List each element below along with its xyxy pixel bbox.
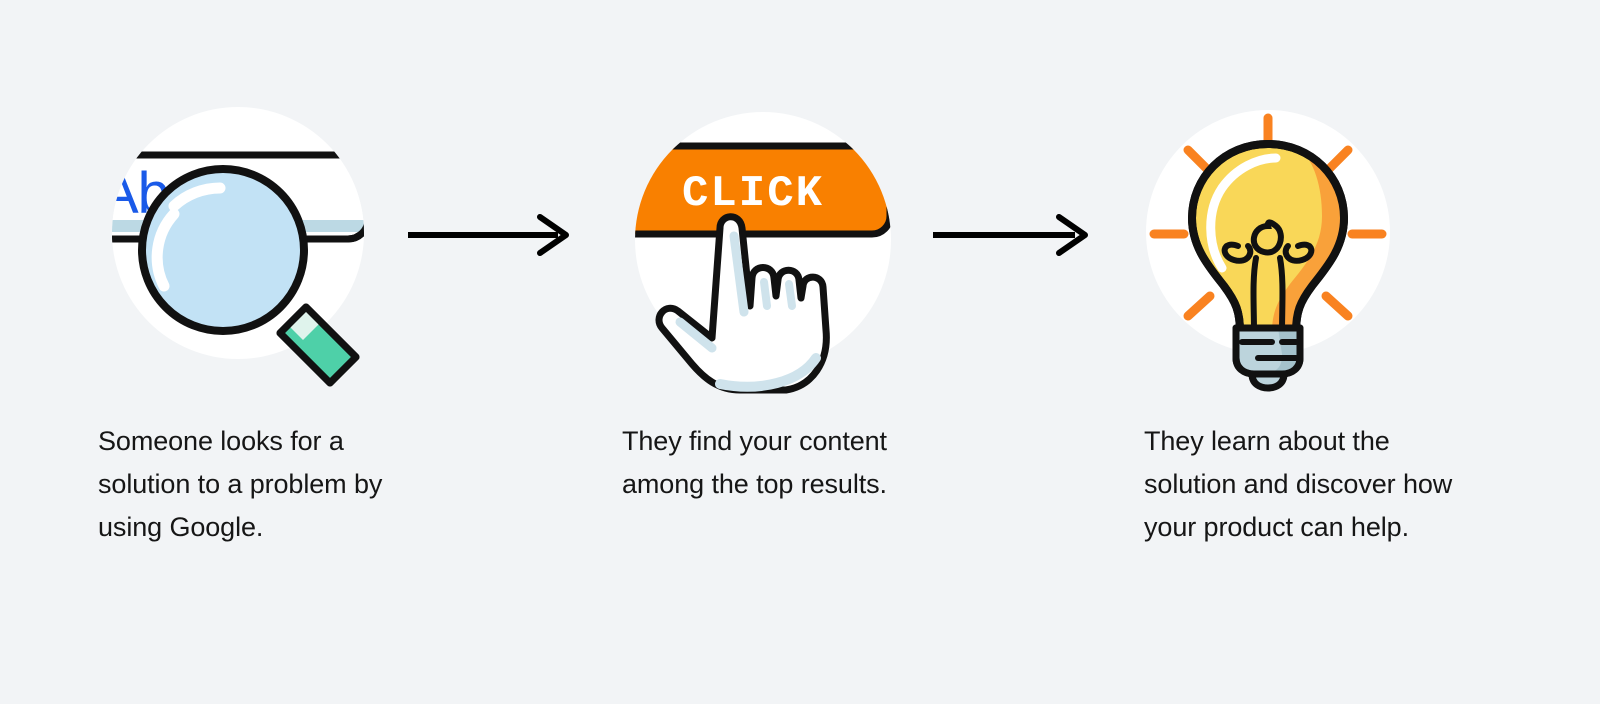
arrow-right-icon bbox=[925, 215, 1105, 255]
step-search-caption: Someone looks for a solution to a proble… bbox=[98, 420, 428, 549]
click-button-cursor-icon: CLICK bbox=[600, 100, 940, 390]
infographic-container: Abc Someone looks for a solution to a pr… bbox=[0, 0, 1600, 704]
step-click-caption: They find your content among the top res… bbox=[622, 420, 922, 506]
magnifier-handle bbox=[280, 306, 356, 383]
step-idea: They learn about the solution and discov… bbox=[1120, 0, 1520, 704]
arrow-right-icon bbox=[400, 215, 580, 255]
bulb-base bbox=[1236, 328, 1300, 388]
click-button: CLICK bbox=[616, 146, 890, 234]
magnifying-glass-search-bar-icon: Abc bbox=[60, 100, 400, 390]
click-button-label: CLICK bbox=[682, 169, 824, 219]
step-click: CLICK They find your content among the t… bbox=[600, 0, 940, 704]
step-search: Abc Someone looks for a solution to a pr… bbox=[60, 0, 460, 704]
lightbulb-idea-icon bbox=[1130, 100, 1470, 390]
step-idea-caption: They learn about the solution and discov… bbox=[1144, 420, 1484, 549]
magnifier-lens bbox=[142, 169, 304, 331]
